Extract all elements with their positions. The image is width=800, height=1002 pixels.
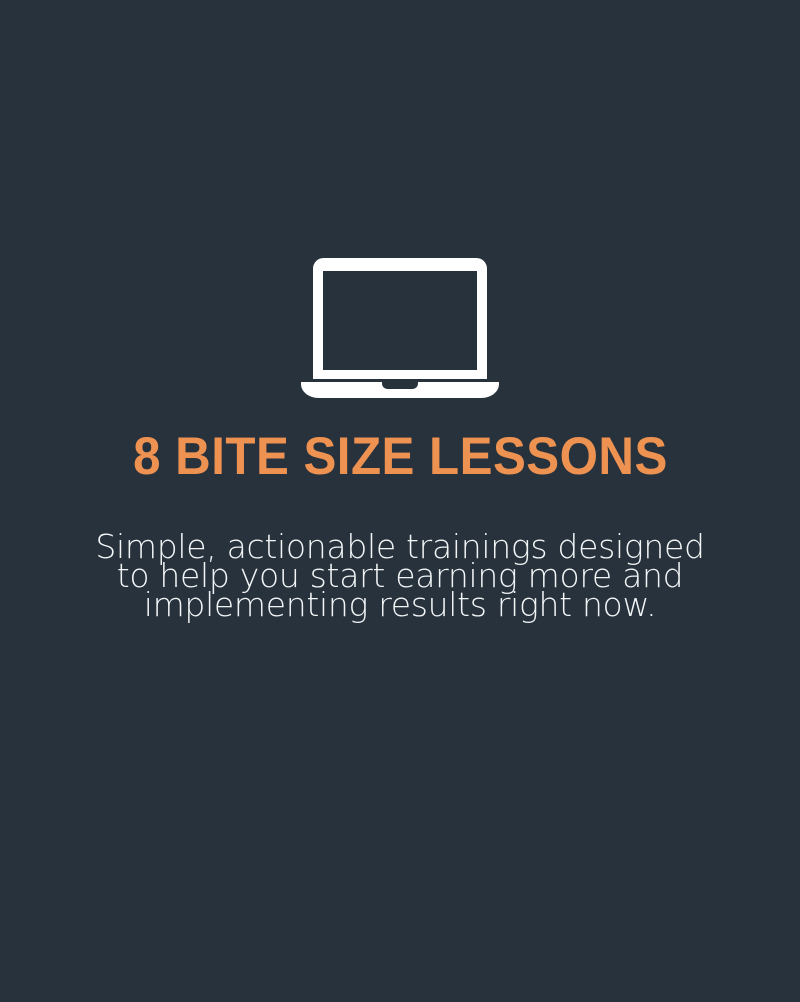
hero-subtitle: Simple, actionable trainings designed to… [40,532,760,619]
page-title: 8 BITE SIZE LESSONS [133,435,668,479]
promo-card: 8 BITE SIZE LESSONS Simple, actionable t… [0,0,800,1002]
laptop-icon [300,252,500,402]
hero-content: 8 BITE SIZE LESSONS Simple, actionable t… [0,0,800,652]
hero-subtitle-line: implementing results right now. [40,590,760,619]
laptop-icon-graphic [300,252,500,402]
